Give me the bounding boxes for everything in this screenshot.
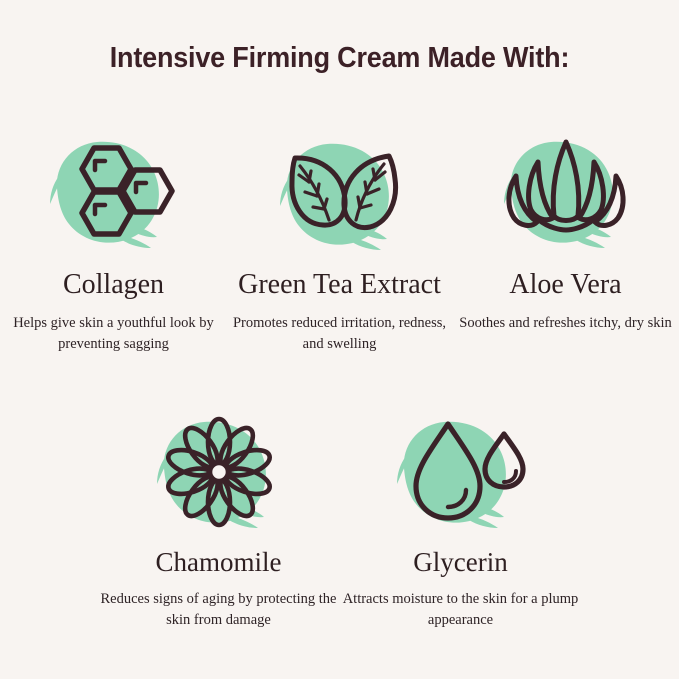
honeycomb-hexagons-icon: [39, 130, 189, 254]
ingredients-infographic: Intensive Firming Cream Made With:: [0, 0, 679, 679]
ingredient-card-chamomile: Chamomile Reduces signs of aging by prot…: [98, 410, 340, 631]
ingredient-name: Green Tea Extract: [238, 270, 441, 299]
aloe-vera-plant-icon: [491, 130, 641, 254]
green-tea-leaves-icon: [265, 130, 415, 254]
ingredient-name: Chamomile: [156, 548, 282, 576]
page-title: Intensive Firming Cream Made With:: [24, 42, 655, 75]
ingredient-row-2: Chamomile Reduces signs of aging by prot…: [0, 410, 679, 631]
ingredient-card-glycerin: Glycerin Attracts moisture to the skin f…: [340, 410, 582, 631]
ingredient-name: Glycerin: [413, 548, 507, 576]
ingredient-name: Aloe Vera: [509, 270, 621, 299]
ingredient-row-1: Collagen Helps give skin a youthful look…: [0, 130, 679, 355]
ingredient-card-collagen: Collagen Helps give skin a youthful look…: [1, 130, 227, 355]
ingredient-card-green-tea-extract: Green Tea Extract Promotes reduced irrit…: [227, 130, 453, 355]
ingredient-description: Promotes reduced irritation, redness, an…: [227, 313, 453, 354]
ingredient-description: Reduces signs of aging by protecting the…: [98, 589, 340, 630]
chamomile-flower-icon: [144, 410, 294, 534]
ingredient-description: Helps give skin a youthful look by preve…: [1, 313, 227, 354]
ingredient-description: Attracts moisture to the skin for a plum…: [340, 589, 582, 630]
ingredient-name: Collagen: [63, 270, 164, 299]
ingredient-description: Soothes and refreshes itchy, dry skin: [459, 313, 672, 334]
glycerin-water-droplets-icon: [386, 410, 536, 534]
ingredient-card-aloe-vera: Aloe Vera Soothes and refreshes itchy, d…: [453, 130, 679, 334]
